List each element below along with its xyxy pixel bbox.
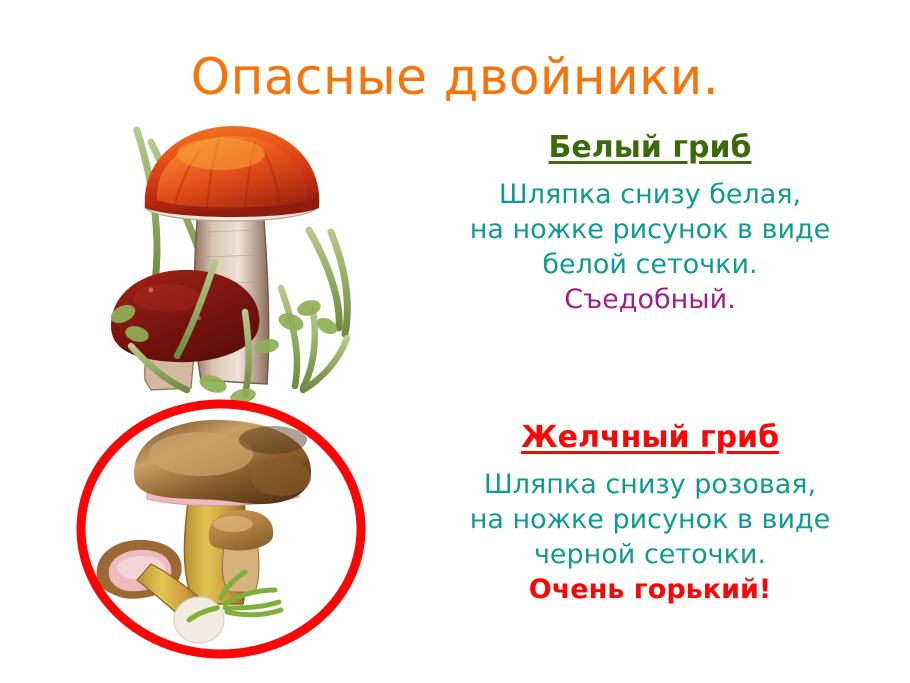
- page-title: Опасные двойники.: [0, 48, 910, 106]
- description-line: Шляпка снизу розовая,: [400, 467, 900, 502]
- porcini-mushroom-illustration: [95, 112, 385, 402]
- description-line: черной сеточки.: [400, 537, 900, 572]
- species-block-bile-mushroom: Желчный гриб Шляпка снизу розовая, на но…: [400, 420, 900, 607]
- description-line: белой сеточки.: [400, 247, 900, 282]
- slide-canvas: Опасные двойники.: [0, 0, 910, 683]
- verdict-white-mushroom: Съедобный.: [564, 284, 735, 315]
- species-heading-bile-mushroom: Желчный гриб: [400, 420, 900, 457]
- description-line: на ножке рисунок в виде: [400, 502, 900, 537]
- species-description-bile-mushroom: Шляпка снизу розовая, на ножке рисунок в…: [400, 467, 900, 607]
- species-heading-white-mushroom: Белый гриб: [400, 130, 900, 167]
- description-line: Шляпка снизу белая,: [400, 177, 900, 212]
- bile-bolete-illustration: [75, 398, 367, 660]
- species-description-white-mushroom: Шляпка снизу белая, на ножке рисунок в в…: [400, 177, 900, 317]
- species-block-white-mushroom: Белый гриб Шляпка снизу белая, на ножке …: [400, 130, 900, 317]
- verdict-bile-mushroom: Очень горький!: [529, 574, 771, 605]
- description-line: на ножке рисунок в виде: [400, 212, 900, 247]
